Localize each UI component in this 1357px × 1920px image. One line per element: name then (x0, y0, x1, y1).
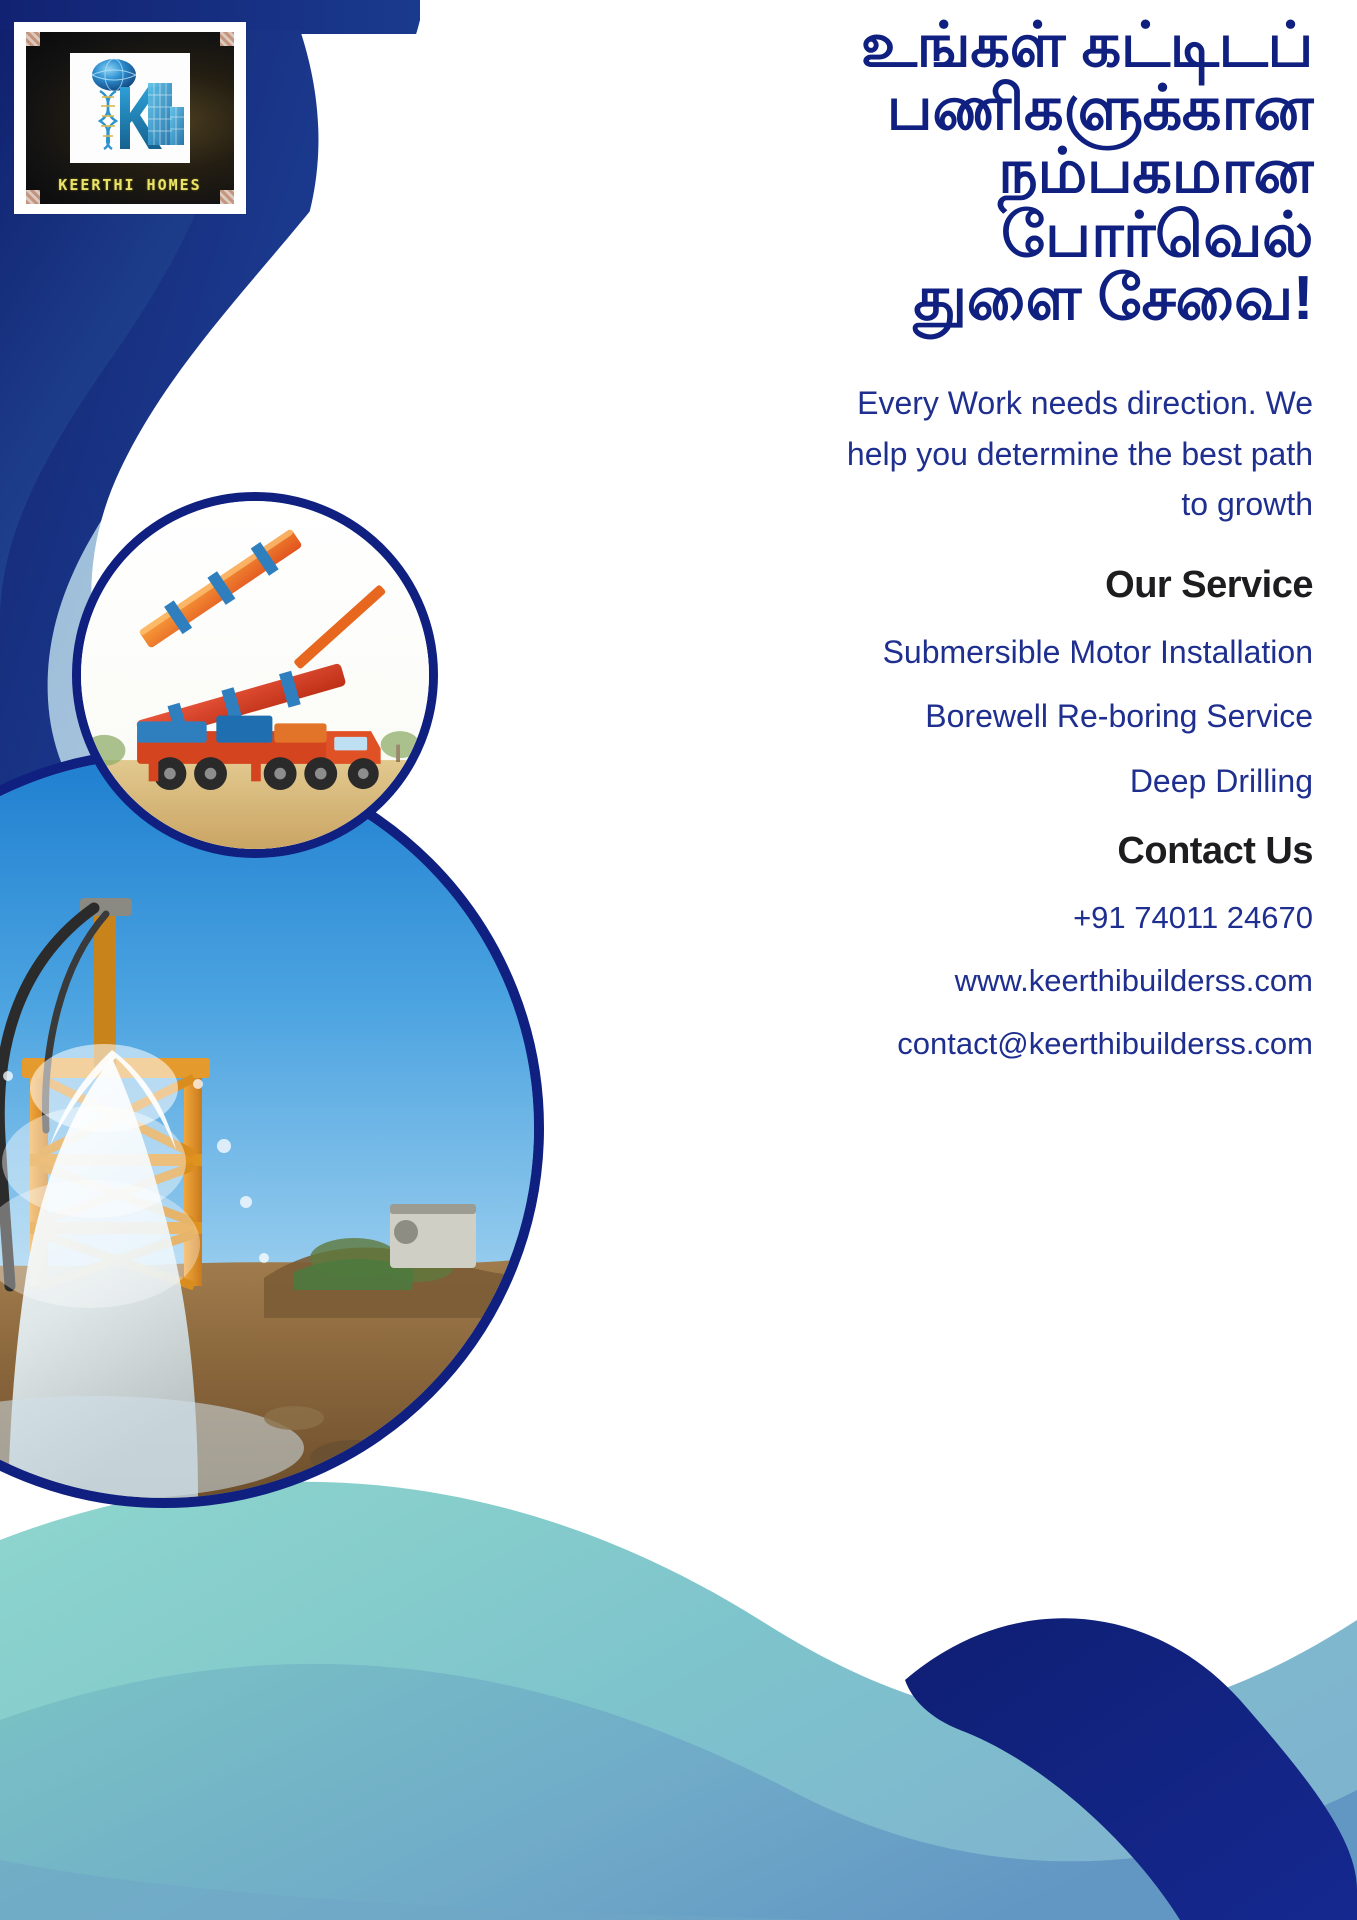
headline-line-1: உங்கள் கட்டிடப் (543, 14, 1313, 77)
logo-wordmark: KEERTHI HOMES (26, 176, 234, 194)
frame-corner-icon (26, 32, 40, 46)
tagline: Every Work needs direction. We help you … (543, 378, 1313, 530)
frame-corner-icon (220, 32, 234, 46)
tagline-line-1: Every Work needs direction. We (543, 378, 1313, 429)
frame-corner-icon (220, 190, 234, 204)
service-item: Borewell Re-boring Service (543, 697, 1313, 735)
contact-phone[interactable]: +91 74011 24670 (543, 899, 1313, 936)
drilling-rig-photo (72, 492, 438, 858)
poster-canvas: KEERTHI HOMES (0, 0, 1357, 1920)
frame-corner-icon (26, 190, 40, 204)
content-column: உங்கள் கட்டிடப் பணிகளுக்கான நம்பகமான போர… (543, 0, 1313, 1063)
service-item: Submersible Motor Installation (543, 633, 1313, 671)
borewell-water-photo (0, 748, 544, 1508)
headline-line-4: போர்வெல் (543, 204, 1313, 267)
globe-dna-building-icon (70, 53, 190, 163)
headline-line-5: துளை சேவை! (543, 267, 1313, 330)
contact-email[interactable]: contact@keerthibuilderss.com (543, 1025, 1313, 1062)
logo-inner: KEERTHI HOMES (26, 32, 234, 204)
service-item: Deep Drilling (543, 762, 1313, 800)
contact-us-heading: Contact Us (543, 830, 1313, 873)
logo-emblem (70, 53, 190, 163)
contact-website[interactable]: www.keerthibuilderss.com (543, 962, 1313, 999)
tagline-line-2: help you determine the best path (543, 429, 1313, 480)
drilling-rig-illustration (81, 501, 429, 849)
borewell-water-illustration (0, 758, 534, 1498)
logo-frame: KEERTHI HOMES (14, 22, 246, 214)
headline-line-2: பணிகளுக்கான (543, 77, 1313, 140)
headline-line-3: நம்பகமான (543, 140, 1313, 203)
page-title: உங்கள் கட்டிடப் பணிகளுக்கான நம்பகமான போர… (543, 14, 1313, 330)
our-service-heading: Our Service (543, 564, 1313, 607)
tagline-line-3: to growth (543, 479, 1313, 530)
